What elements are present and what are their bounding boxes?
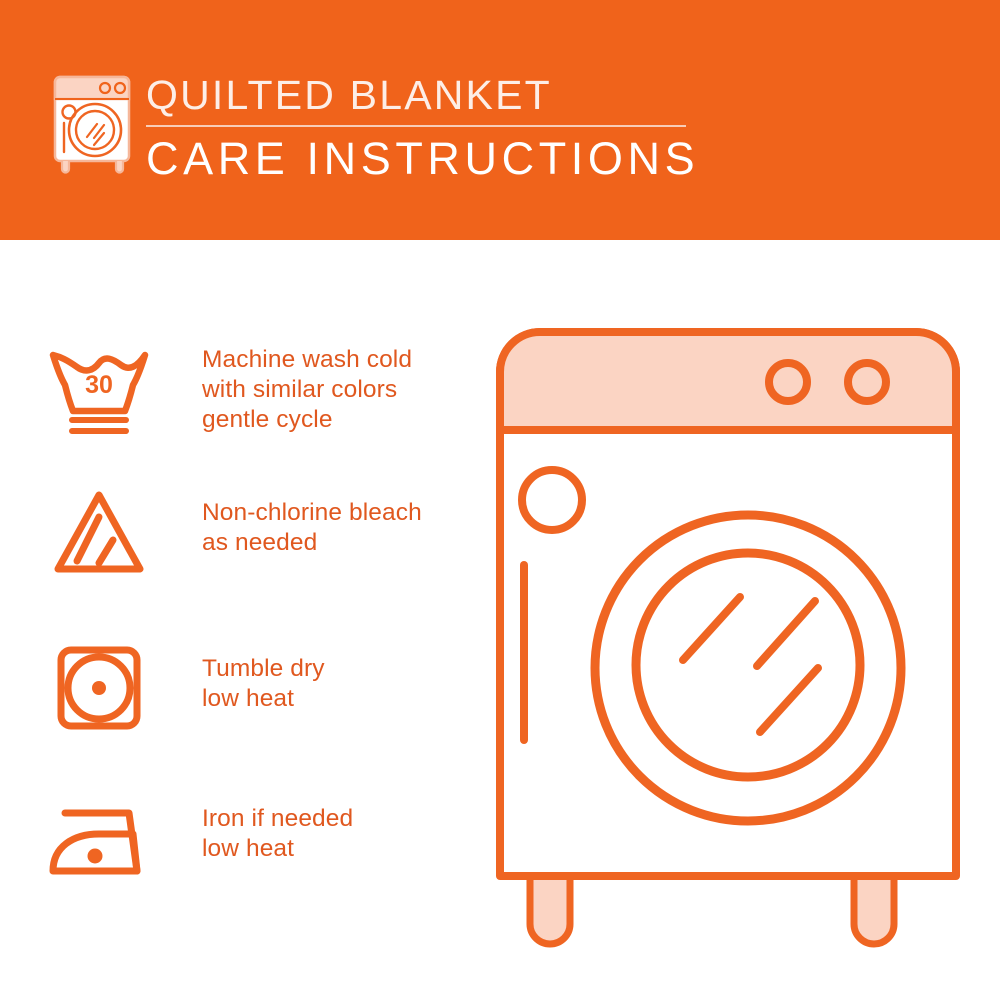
leg-right [854, 872, 894, 944]
machine-wash-30-gentle-icon: 30 [44, 338, 154, 443]
header-title-block: QUILTED BLANKET CARE INSTRUCTIONS [146, 72, 706, 185]
tumble-dry-low-heat-icon [44, 636, 154, 741]
washing-machine-icon [42, 68, 146, 174]
care-item-machine-wash: 30 Machine wash cold with similar colors… [44, 338, 464, 468]
care-item-label: Machine wash cold with similar colors ge… [154, 338, 412, 435]
front-load-washing-machine-illustration [488, 320, 968, 950]
care-item-iron: Iron if needed low heat [44, 788, 464, 918]
iron-low-heat-icon [44, 788, 154, 893]
care-item-bleach: Non-chlorine bleach as needed [44, 480, 464, 610]
page-title: QUILTED BLANKET [146, 72, 706, 118]
care-item-label: Tumble dry low heat [154, 636, 325, 714]
title-divider [146, 125, 686, 127]
leg-left [530, 872, 570, 944]
page-subtitle: CARE INSTRUCTIONS [146, 133, 706, 185]
page-header: QUILTED BLANKET CARE INSTRUCTIONS [0, 0, 1000, 240]
care-item-tumble-dry: Tumble dry low heat [44, 636, 464, 766]
care-item-label: Non-chlorine bleach as needed [154, 480, 422, 558]
wash-temperature-label: 30 [85, 371, 113, 399]
care-instructions-page: QUILTED BLANKET CARE INSTRUCTIONS 30 Mac… [0, 0, 1000, 1000]
non-chlorine-bleach-triangle-icon [44, 480, 154, 585]
care-item-label: Iron if needed low heat [154, 788, 353, 864]
care-instruction-list: 30 Machine wash cold with similar colors… [0, 240, 480, 1000]
